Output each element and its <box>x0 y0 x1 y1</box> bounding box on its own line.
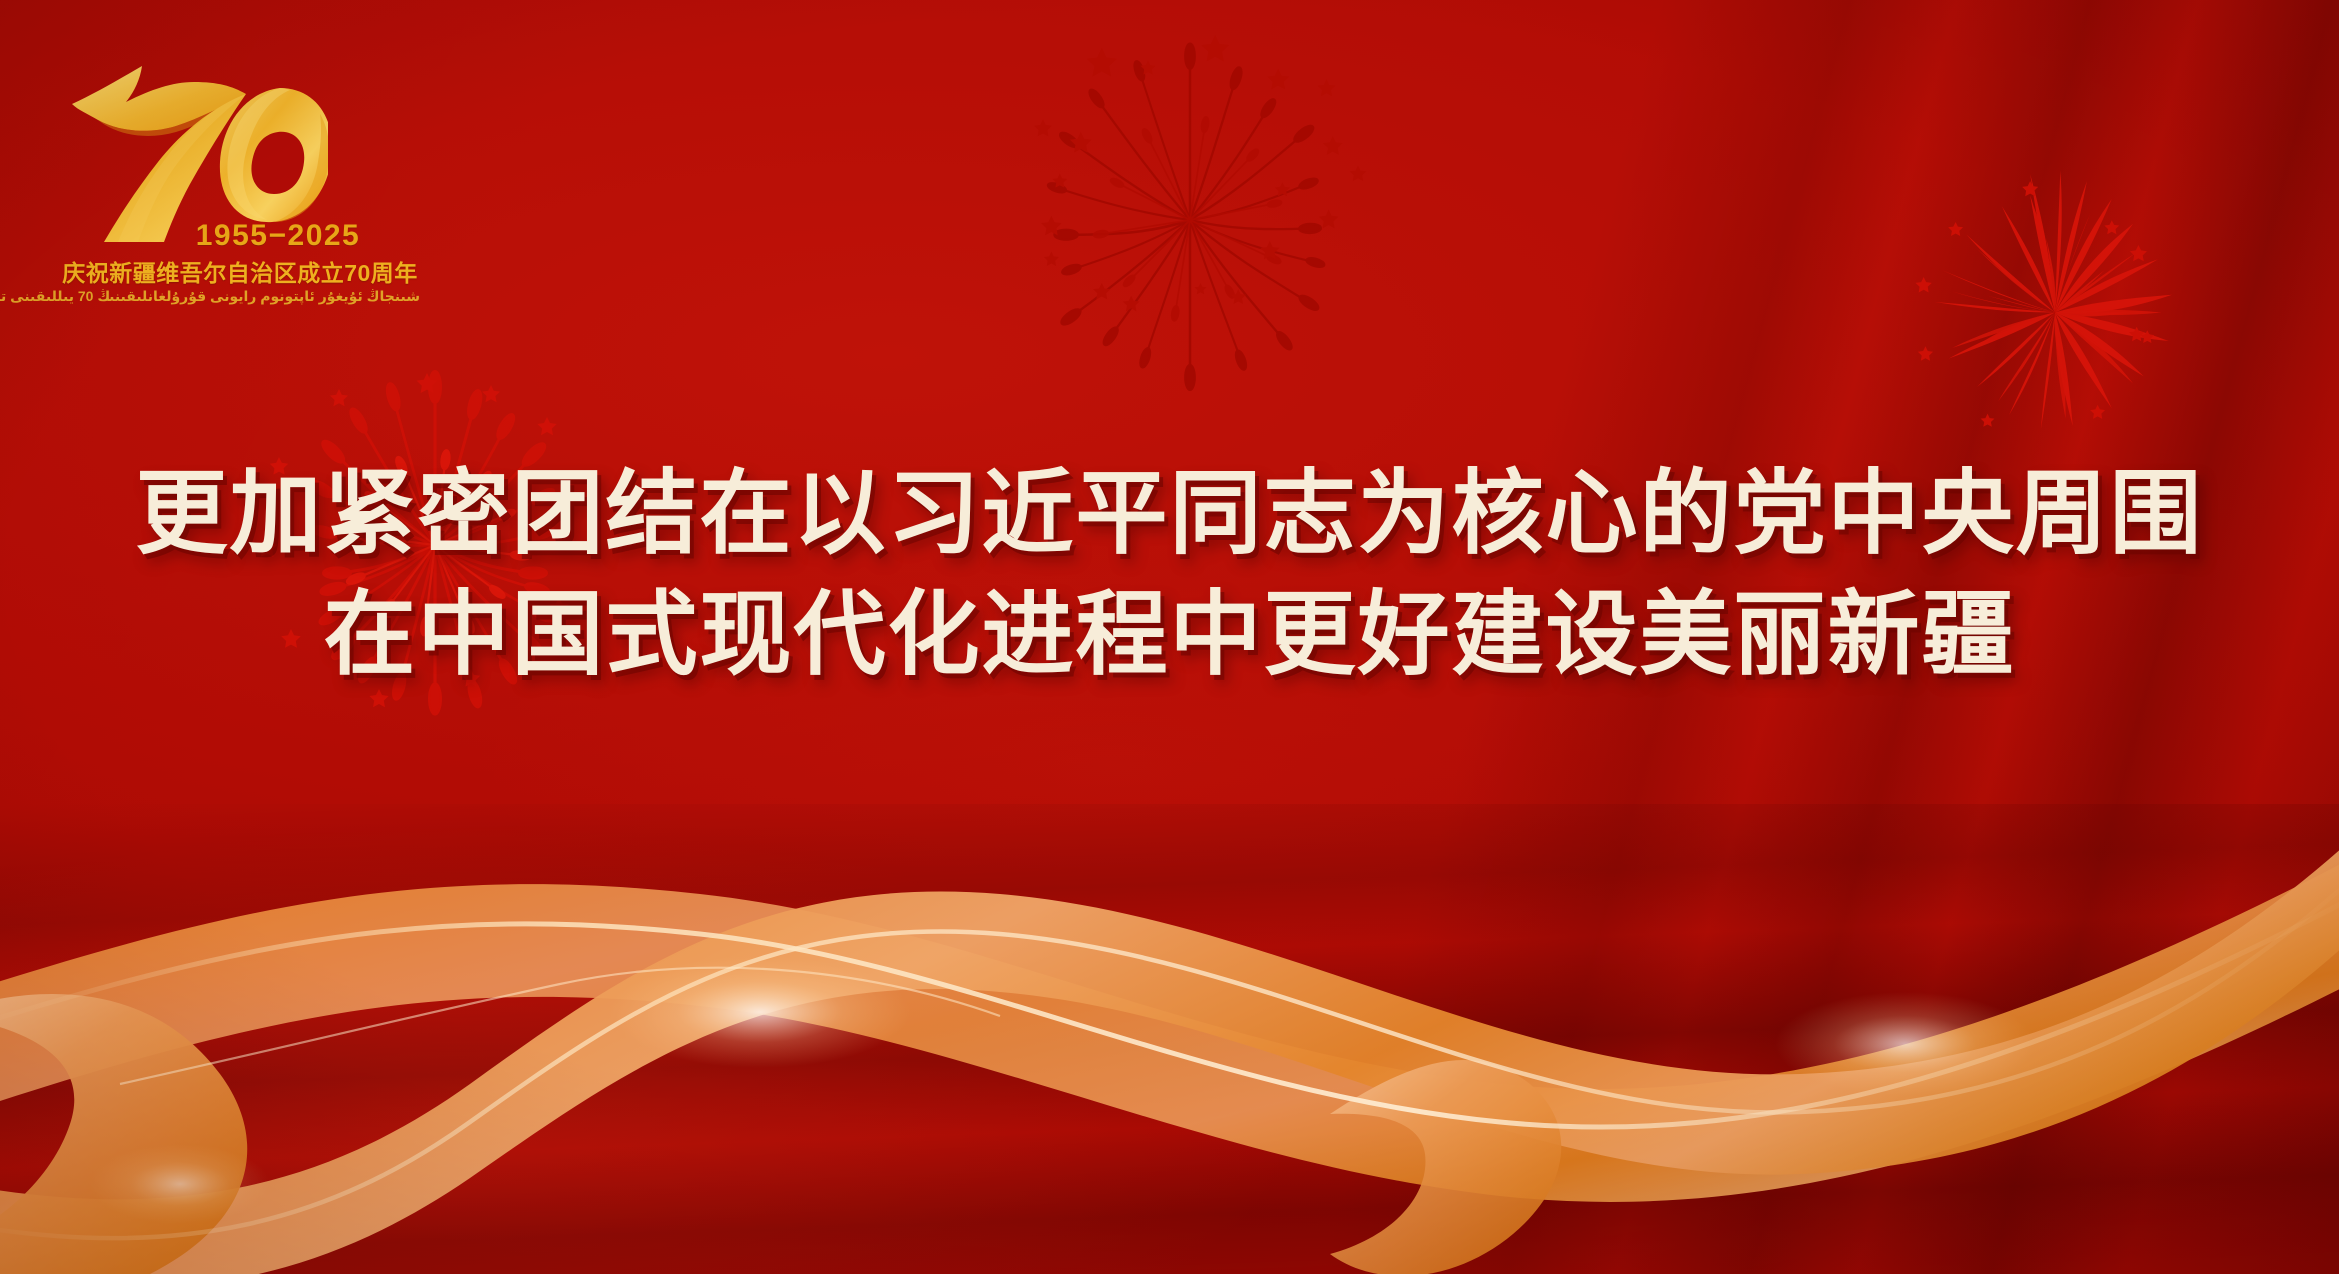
background-vignette <box>0 0 2339 1274</box>
anniversary-banner: 1955−2025 庆祝新疆维吾尔自治区成立70周年 شىنجاڭ ئۇيغۇر… <box>0 0 2339 1274</box>
